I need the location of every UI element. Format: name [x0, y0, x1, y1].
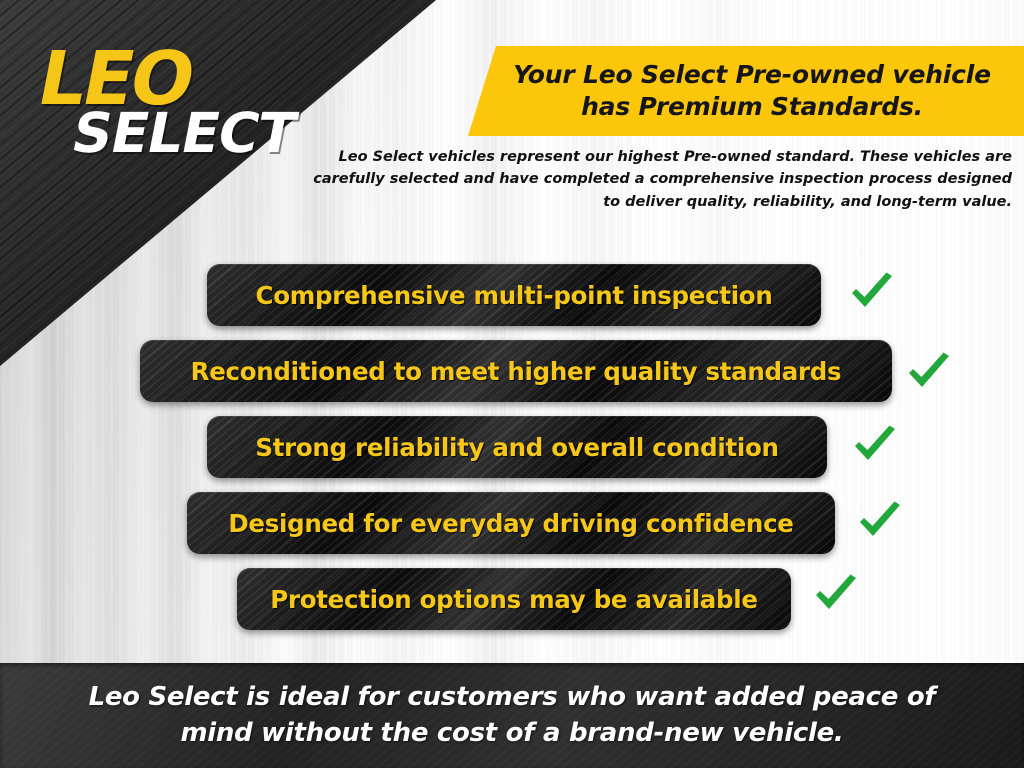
logo-word-select: SELECT: [68, 106, 305, 161]
feature-pill[interactable]: Strong reliability and overall condition: [207, 416, 827, 478]
leo-select-logo: LEO SELECT: [21, 42, 316, 172]
feature-label: Reconditioned to meet higher quality sta…: [169, 357, 864, 386]
footer-text: Leo Select is ideal for customers who wa…: [62, 680, 962, 750]
check-icon: [848, 419, 902, 473]
feature-row: Reconditioned to meet higher quality sta…: [0, 340, 1024, 416]
feature-label: Designed for everyday driving confidence: [206, 509, 815, 538]
check-icon: [845, 266, 899, 320]
feature-list: Comprehensive multi-point inspection Rec…: [0, 264, 1024, 644]
headline-text: Your Leo Select Pre-owned vehicle has Pr…: [473, 59, 1003, 123]
check-icon: [809, 568, 863, 622]
check-icon: [902, 346, 956, 400]
feature-pill[interactable]: Reconditioned to meet higher quality sta…: [140, 340, 892, 402]
feature-row: Designed for everyday driving confidence: [0, 492, 1024, 568]
check-icon: [853, 495, 907, 549]
poster-canvas: LEO SELECT Your Leo Select Pre-owned veh…: [0, 0, 1024, 768]
feature-label: Strong reliability and overall condition: [233, 433, 800, 462]
feature-label: Comprehensive multi-point inspection: [234, 281, 795, 310]
feature-pill[interactable]: Protection options may be available: [237, 568, 791, 630]
feature-row: Protection options may be available: [0, 568, 1024, 644]
feature-pill[interactable]: Comprehensive multi-point inspection: [207, 264, 821, 326]
feature-label: Protection options may be available: [248, 585, 779, 614]
feature-row: Strong reliability and overall condition: [0, 416, 1024, 492]
footer-bar: Leo Select is ideal for customers who wa…: [0, 663, 1024, 768]
headline-banner: Your Leo Select Pre-owned vehicle has Pr…: [452, 46, 1024, 136]
feature-row: Comprehensive multi-point inspection: [0, 264, 1024, 340]
feature-pill[interactable]: Designed for everyday driving confidence: [187, 492, 835, 554]
description-paragraph: Leo Select vehicles represent our highes…: [300, 146, 1012, 213]
